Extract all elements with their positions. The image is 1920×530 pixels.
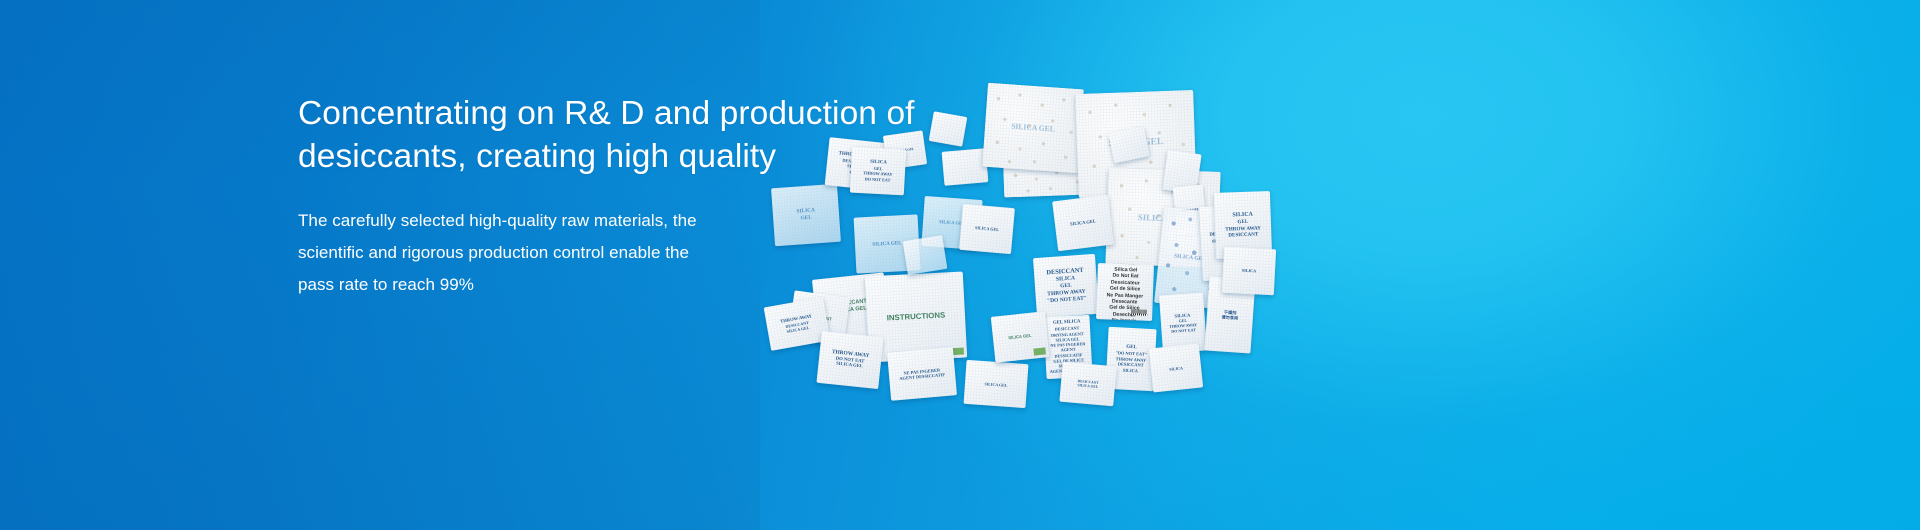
- packet-label: SILICA GEL: [959, 204, 1015, 254]
- packet-label: SILICAGEL: [771, 184, 841, 246]
- desiccant-packet: SILICA GEL: [959, 204, 1015, 254]
- barcode: [1131, 309, 1147, 316]
- green-tab: [1033, 347, 1046, 355]
- desiccant-packet: [903, 235, 948, 275]
- packet-label: SILICA GEL: [964, 360, 1029, 408]
- product-photo-desiccant-packets: SILICAGELTHROW AWAYDESICCANTSILICAGELSIL…: [755, 78, 1315, 388]
- packet-label: SILICA GEL: [982, 83, 1084, 173]
- green-tab: [952, 348, 964, 356]
- packet-label: SILICA GEL: [991, 311, 1050, 362]
- packet-label: DESICCANTSILICAGELTHROW AWAY"DO NOT EAT": [1033, 254, 1099, 318]
- packet-label: SILICA GEL: [1052, 195, 1114, 251]
- desiccant-packet: SILICAGEL: [771, 184, 841, 246]
- packet-label: SILICA: [1222, 247, 1276, 296]
- packet-label: SILICA: [1149, 344, 1203, 393]
- desiccant-packet: SILICA GEL: [964, 360, 1029, 408]
- desiccant-packet: SILICA GEL: [982, 83, 1084, 173]
- packet-label: [903, 235, 948, 275]
- desiccant-packet: SILICA: [1149, 344, 1203, 393]
- hero-banner: Concentrating on R& D and production of …: [0, 0, 1920, 530]
- desiccant-packet: SILICA: [1222, 247, 1276, 296]
- packet-label: SILICAGELTHROW AWAYDO NOT EAT: [850, 147, 906, 196]
- desiccant-packet: DesiccantSilica GelDo Not EatDessicateur…: [1096, 263, 1154, 321]
- desiccant-packet: NE PAS INGERERAGENT DESSICCATIF: [887, 347, 957, 401]
- desiccant-packet: SILICA GEL: [991, 311, 1050, 362]
- desiccant-packet: [929, 111, 968, 146]
- desiccant-packet: SILICA GEL: [1052, 195, 1114, 251]
- desiccant-packet: SILICAGELTHROW AWAYDO NOT EAT: [850, 147, 906, 196]
- packet-label: THROW AWAYDO NOT EATSILICA GEL: [816, 331, 883, 389]
- desiccant-packet: THROW AWAYDO NOT EATSILICA GEL: [816, 331, 883, 389]
- packet-label: NE PAS INGERERAGENT DESSICCATIF: [887, 347, 957, 401]
- packet-label: [942, 148, 989, 186]
- desiccant-packet: DESICCANTSILICAGELTHROW AWAY"DO NOT EAT": [1033, 254, 1099, 318]
- hero-subcopy: The carefully selected high-quality raw …: [298, 205, 798, 301]
- packet-label: DESICCANTSILICA GEL: [1059, 362, 1116, 407]
- desiccant-packet: DESICCANTSILICA GEL: [1059, 362, 1116, 407]
- packet-label: [929, 111, 968, 146]
- desiccant-packet: [942, 148, 989, 186]
